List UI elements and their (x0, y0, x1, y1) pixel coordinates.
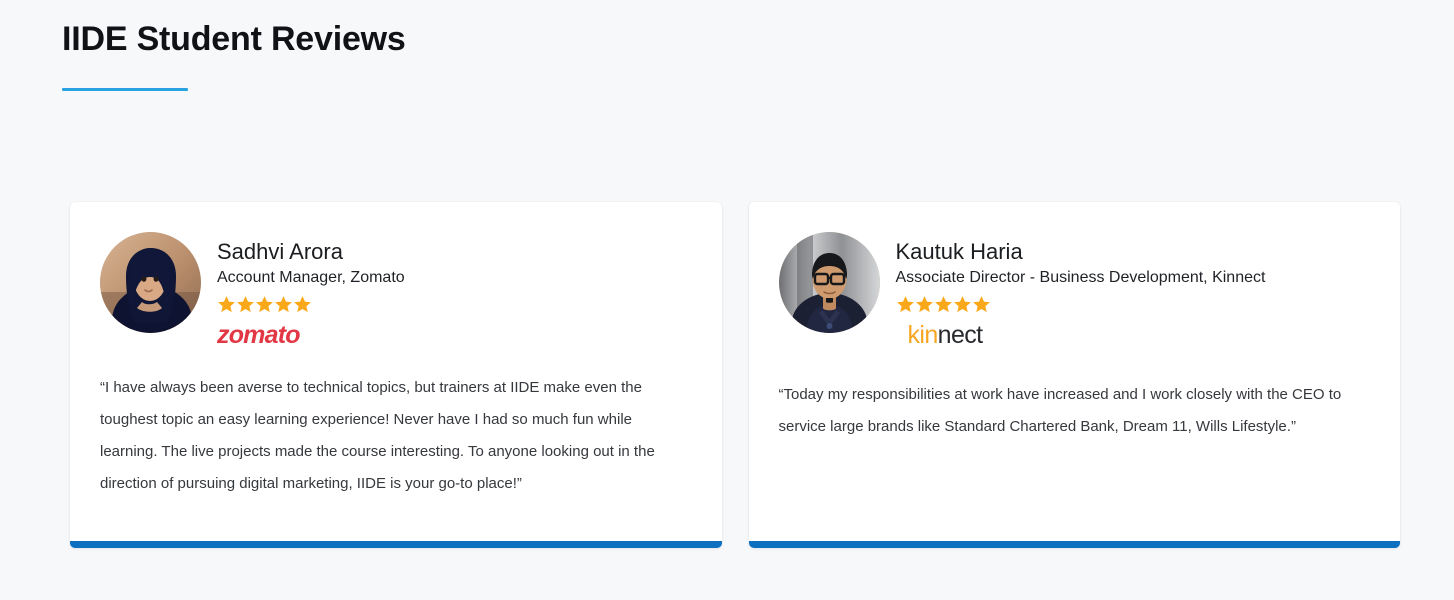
reviewer-name: Sadhvi Arora (217, 239, 694, 265)
avatar (779, 232, 880, 333)
review-quote: “I have always been averse to technical … (70, 372, 722, 500)
company-logo-text-primary: kin (908, 321, 938, 349)
star-icon (274, 295, 293, 314)
star-icon (934, 295, 953, 314)
reviews-list: Sadhvi Arora Account Manager, Zomato zom… (70, 202, 1400, 548)
card-accent-bar (749, 541, 1401, 548)
rating-stars (896, 295, 1373, 314)
star-icon (953, 295, 972, 314)
review-card[interactable]: Sadhvi Arora Account Manager, Zomato zom… (70, 202, 722, 548)
review-card-header: Kautuk Haria Associate Director - Busine… (749, 202, 1401, 348)
card-accent-bar (70, 541, 722, 548)
reviewer-identity: Kautuk Haria Associate Director - Busine… (896, 232, 1373, 348)
review-card-header: Sadhvi Arora Account Manager, Zomato zom… (70, 202, 722, 348)
reviewer-role: Associate Director - Business Developmen… (896, 268, 1373, 289)
company-logo-kinnect: kinnect (896, 322, 1373, 348)
star-icon (255, 295, 274, 314)
review-card[interactable]: Kautuk Haria Associate Director - Busine… (749, 202, 1401, 548)
company-logo-text-secondary: nect (938, 321, 983, 349)
reviewer-role: Account Manager, Zomato (217, 268, 694, 289)
star-icon (896, 295, 915, 314)
company-logo-zomato: zomato (217, 322, 694, 348)
star-icon (236, 295, 255, 314)
page-title: IIDE Student Reviews (62, 20, 406, 59)
reviewer-identity: Sadhvi Arora Account Manager, Zomato zom… (217, 232, 694, 348)
avatar (100, 232, 201, 333)
reviewer-name: Kautuk Haria (896, 239, 1373, 265)
review-quote: “Today my responsibilities at work have … (749, 379, 1401, 443)
rating-stars (217, 295, 694, 314)
star-icon (217, 295, 236, 314)
star-icon (293, 295, 312, 314)
company-logo-text: zomato (217, 323, 300, 348)
section-header: IIDE Student Reviews (62, 20, 406, 91)
star-icon (972, 295, 991, 314)
star-icon (915, 295, 934, 314)
title-underline-accent (62, 88, 188, 91)
